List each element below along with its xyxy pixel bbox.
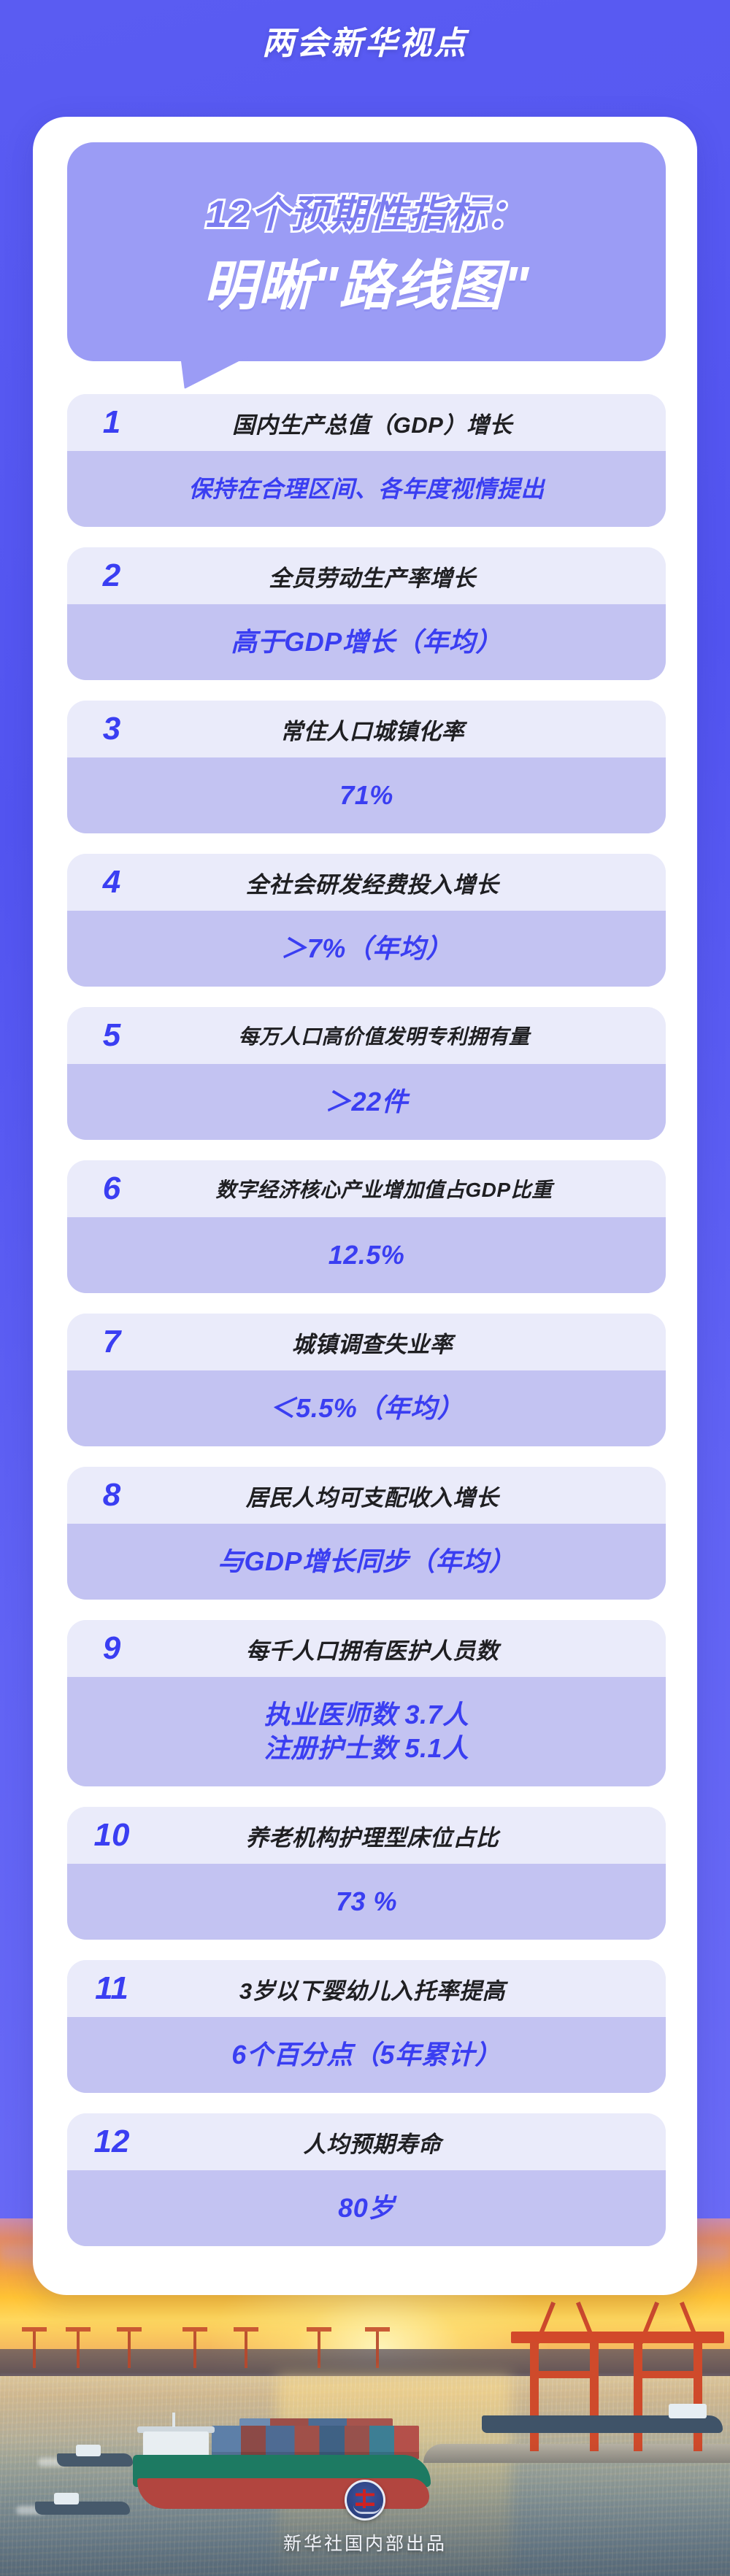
- indicator-header: 5 每万人口高价值发明专利拥有量: [67, 1007, 666, 1064]
- logo-arc: [353, 2505, 381, 2514]
- indicator-row-3[interactable]: 3 常住人口城镇化率 71%: [67, 701, 666, 833]
- indicator-header: 10 养老机构护理型床位占比: [67, 1807, 666, 1864]
- indicator-header: 4 全社会研发经费投入增长: [67, 854, 666, 911]
- indicator-number: 8: [80, 1479, 143, 1511]
- indicator-label: 国内生产总值（GDP）增长: [143, 406, 647, 439]
- indicator-label: 数字经济核心产业增加值占GDP比重: [143, 1174, 647, 1203]
- indicator-header: 1 国内生产总值（GDP）增长: [67, 394, 666, 451]
- indicator-number: 4: [80, 866, 143, 898]
- indicator-label: 城镇调查失业率: [143, 1326, 647, 1359]
- indicator-value: ＞7%（年均）: [67, 911, 666, 987]
- indicator-label: 全社会研发经费投入增长: [143, 866, 647, 899]
- indicator-number: 9: [80, 1632, 143, 1665]
- title-banner: 12个预期性指标： 明晰"路线图": [67, 142, 666, 361]
- indicator-label: 常住人口城镇化率: [143, 713, 647, 746]
- xinhua-agency-logo-icon: [345, 2480, 385, 2521]
- indicator-number: 2: [80, 560, 143, 592]
- indicator-number: 3: [80, 713, 143, 745]
- indicator-value: 保持在合理区间、各年度视情提出: [67, 451, 666, 527]
- indicator-row-8[interactable]: 8 居民人均可支配收入增长 与GDP增长同步（年均）: [67, 1467, 666, 1600]
- indicator-value: 高于GDP增长（年均）: [67, 604, 666, 680]
- indicator-value: 71%: [67, 757, 666, 833]
- indicator-header: 6 数字经济核心产业增加值占GDP比重: [67, 1160, 666, 1217]
- indicator-number: 7: [80, 1326, 143, 1358]
- indicator-header: 7 城镇调查失业率: [67, 1314, 666, 1370]
- indicator-value: ＞22件: [67, 1064, 666, 1140]
- indicator-value: ＜5.5%（年均）: [67, 1370, 666, 1446]
- indicator-number: 5: [80, 1019, 143, 1052]
- indicator-header: 11 3岁以下婴幼儿入托率提高: [67, 1960, 666, 2017]
- indicator-value: 6个百分点（5年累计）: [67, 2017, 666, 2093]
- indicator-row-1[interactable]: 1 国内生产总值（GDP）增长 保持在合理区间、各年度视情提出: [67, 394, 666, 527]
- indicator-label: 养老机构护理型床位占比: [143, 1819, 647, 1852]
- indicator-row-2[interactable]: 2 全员劳动生产率增长 高于GDP增长（年均）: [67, 547, 666, 680]
- indicator-row-9[interactable]: 9 每千人口拥有医护人员数 执业医师数 3.7人 注册护士数 5.1人: [67, 1620, 666, 1786]
- indicator-value: 73 %: [67, 1864, 666, 1940]
- indicator-label: 居民人均可支配收入增长: [143, 1479, 647, 1512]
- indicator-row-5[interactable]: 5 每万人口高价值发明专利拥有量 ＞22件: [67, 1007, 666, 1140]
- indicator-header: 8 居民人均可支配收入增长: [67, 1467, 666, 1524]
- indicator-header: 3 常住人口城镇化率: [67, 701, 666, 757]
- indicator-value: 12.5%: [67, 1217, 666, 1293]
- tugboat: [57, 2442, 133, 2467]
- title-line-1: 12个预期性指标：: [206, 183, 527, 238]
- indicator-label: 3岁以下婴幼儿入托率提高: [143, 1973, 647, 2005]
- indicator-row-11[interactable]: 11 3岁以下婴幼儿入托率提高 6个百分点（5年累计）: [67, 1960, 666, 2093]
- docked-vessel: [482, 2408, 723, 2433]
- indicator-row-6[interactable]: 6 数字经济核心产业增加值占GDP比重 12.5%: [67, 1160, 666, 1293]
- indicator-number: 10: [80, 1819, 143, 1851]
- indicator-number: 1: [80, 406, 143, 439]
- indicator-row-4[interactable]: 4 全社会研发经费投入增长 ＞7%（年均）: [67, 854, 666, 987]
- indicator-number: 12: [80, 2126, 143, 2158]
- footer-credit: 新华社国内部出品: [283, 2529, 447, 2556]
- indicator-number: 6: [80, 1173, 143, 1205]
- indicator-header: 2 全员劳动生产率增长: [67, 547, 666, 604]
- indicator-header: 12 人均预期寿命: [67, 2113, 666, 2170]
- indicator-row-7[interactable]: 7 城镇调查失业率 ＜5.5%（年均）: [67, 1314, 666, 1446]
- page-title: 两会新华视点: [262, 17, 468, 63]
- indicator-number: 11: [80, 1973, 143, 2005]
- indicator-label: 人均预期寿命: [143, 2126, 647, 2159]
- indicator-label: 每万人口高价值发明专利拥有量: [143, 1021, 647, 1050]
- indicator-row-12[interactable]: 12 人均预期寿命 80岁: [67, 2113, 666, 2246]
- indicator-label: 全员劳动生产率增长: [143, 560, 647, 593]
- indicator-value: 执业医师数 3.7人 注册护士数 5.1人: [67, 1677, 666, 1786]
- page-header: 两会新华视点: [0, 0, 730, 80]
- indicator-list: 1 国内生产总值（GDP）增长 保持在合理区间、各年度视情提出 2 全员劳动生产…: [67, 394, 666, 2267]
- title-line-2: 明晰"路线图": [203, 242, 529, 320]
- indicator-row-10[interactable]: 10 养老机构护理型床位占比 73 %: [67, 1807, 666, 1940]
- page-footer: 新华社国内部出品: [0, 2480, 730, 2556]
- indicator-value: 80岁: [67, 2170, 666, 2246]
- indicator-header: 9 每千人口拥有医护人员数: [67, 1620, 666, 1677]
- indicator-label: 每千人口拥有医护人员数: [143, 1632, 647, 1665]
- indicator-value: 与GDP增长同步（年均）: [67, 1524, 666, 1600]
